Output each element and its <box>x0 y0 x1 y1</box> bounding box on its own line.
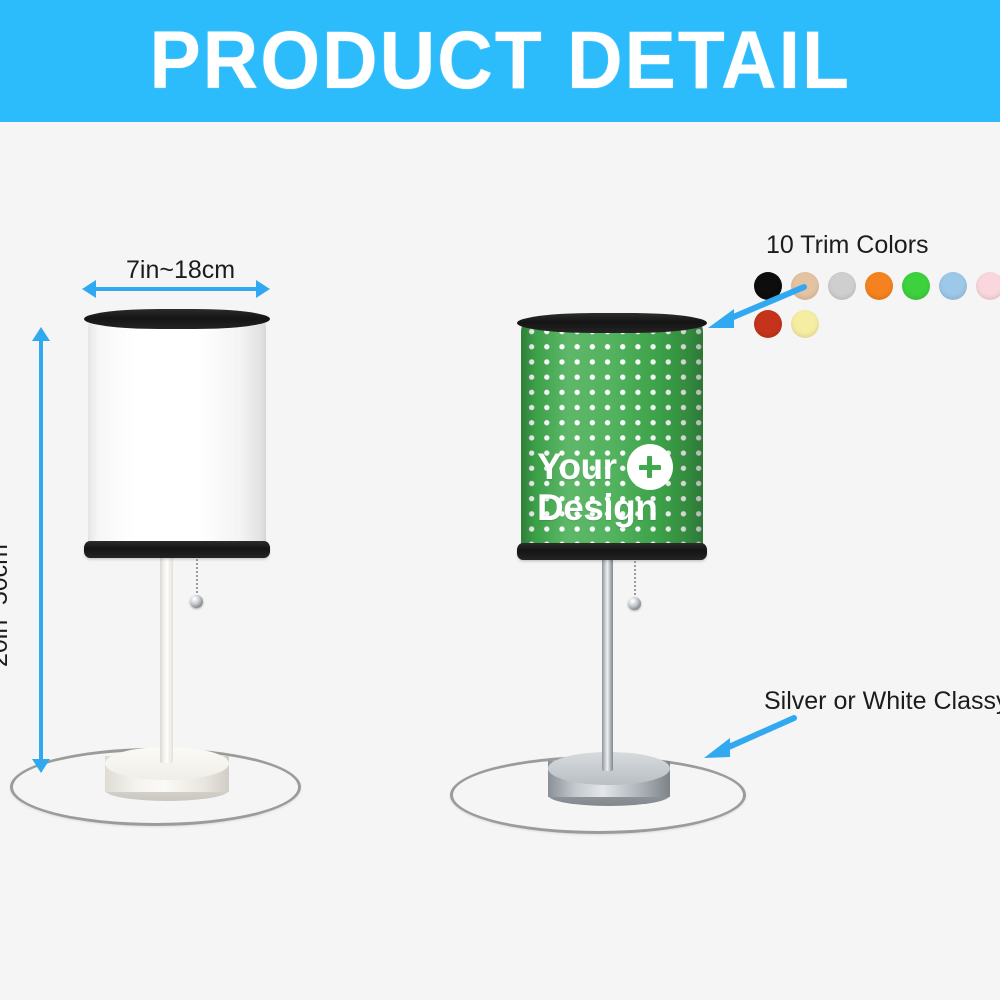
white-lamp-pull-chain-ball[interactable] <box>190 595 203 608</box>
lamp-height-arrow <box>39 340 43 760</box>
trim-colors-title: 10 Trim Colors <box>766 231 929 260</box>
page-header-banner: PRODUCT DETAIL <box>0 0 1000 122</box>
white-lamp-shade <box>88 318 266 550</box>
design-text-line1: Your <box>537 449 617 485</box>
custom-lamp-shade-bottom-trim <box>517 543 707 560</box>
product-detail-page: PRODUCT DETAIL 7in~18cm 20in~50cm <box>0 0 1000 1000</box>
white-lamp-shade-top-trim <box>84 309 270 329</box>
trim-swatch-pink[interactable] <box>976 272 1000 300</box>
white-lamp-shade-surface <box>88 318 266 550</box>
design-text-line2: Design <box>537 490 657 526</box>
trim-colors-pointer-arrow <box>700 283 810 338</box>
custom-lamp-shade: Your Design <box>521 322 703 552</box>
white-lamp-pole <box>160 548 173 763</box>
custom-lamp-shade-top-trim <box>517 313 707 333</box>
white-lamp-shade-bottom-trim <box>84 541 270 558</box>
page-title: PRODUCT DETAIL <box>149 20 850 102</box>
custom-lamp-pull-chain-ball[interactable] <box>628 597 641 610</box>
trim-swatch-green[interactable] <box>902 272 930 300</box>
custom-lamp-pole <box>602 556 613 771</box>
base-finish-pointer-arrow <box>694 712 804 767</box>
white-lamp-pull-chain[interactable] <box>196 558 198 600</box>
trim-swatch-light-gray[interactable] <box>828 272 856 300</box>
shade-width-arrow <box>95 287 257 291</box>
lamp-height-label: 20in~50cm <box>0 544 14 667</box>
trim-swatch-light-blue[interactable] <box>939 272 967 300</box>
custom-lamp-pull-chain[interactable] <box>634 560 636 602</box>
custom-design-placeholder: Your Design <box>537 444 673 526</box>
trim-swatch-orange[interactable] <box>865 272 893 300</box>
plus-icon <box>627 444 673 490</box>
shade-width-label: 7in~18cm <box>126 256 235 285</box>
